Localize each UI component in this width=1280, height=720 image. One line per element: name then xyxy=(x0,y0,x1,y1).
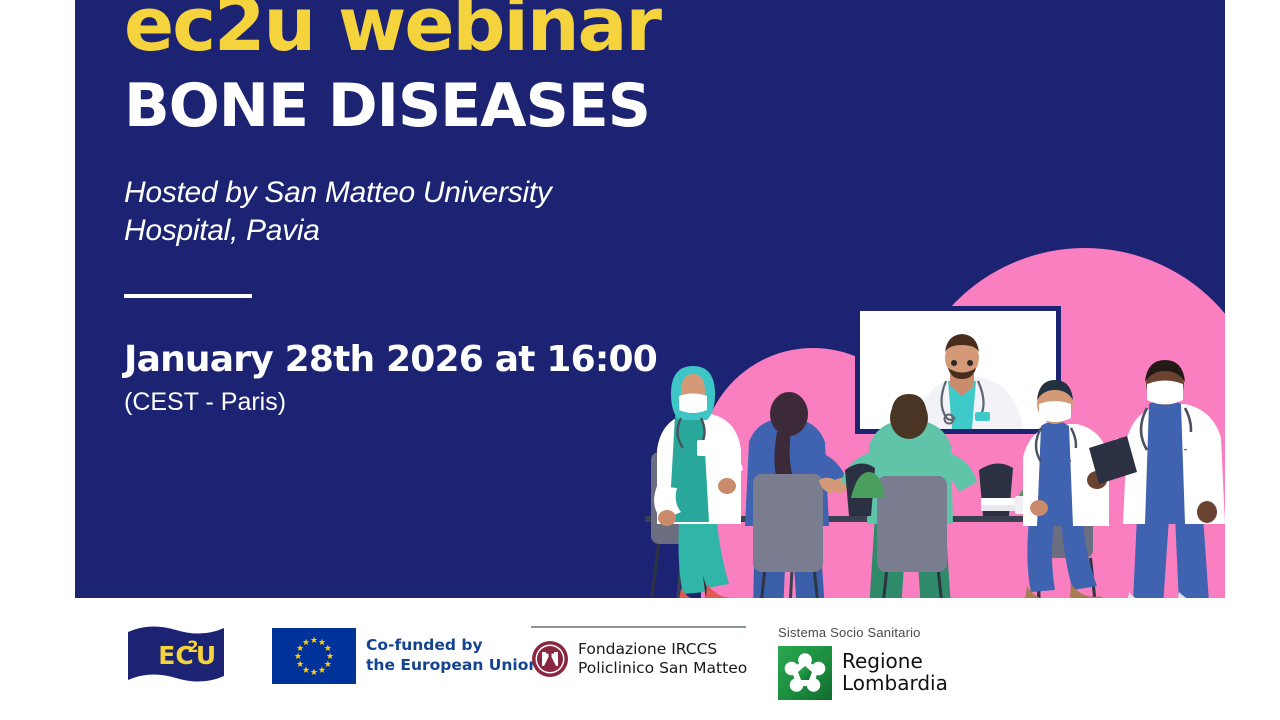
eu-cofunded-logo: Co-funded by the European Union xyxy=(272,628,539,684)
eu-cofunded-line-1: Co-funded by xyxy=(366,636,539,656)
ec2u-logo: EC U 2 xyxy=(124,620,228,692)
poster-timezone: (CEST - Paris) xyxy=(124,390,724,415)
poster-date: January 28th 2026 at 16:00 xyxy=(124,342,724,378)
regione-lombardia-logo: Sistema Socio Sanitario xyxy=(778,625,948,700)
poster-kicker: ec2u webinar xyxy=(124,0,724,62)
rosa-camuna-icon xyxy=(778,646,832,700)
san-matteo-line-2: Policlinico San Matteo xyxy=(578,659,747,678)
eu-flag-icon xyxy=(272,628,356,684)
svg-text:2: 2 xyxy=(187,637,198,656)
poster-footer: EC U 2 xyxy=(0,598,1280,720)
poster-divider-rule xyxy=(124,294,252,298)
san-matteo-text: Fondazione IRCCS Policlinico San Matteo xyxy=(578,640,747,679)
eu-cofunded-text: Co-funded by the European Union xyxy=(366,636,539,676)
poster-navy-panel: ec2u webinar BONE DISEASES Hosted by San… xyxy=(75,0,1225,598)
regione-lombardia-line-1: Regione xyxy=(842,651,948,673)
poster-host: Hosted by San Matteo University Hospital… xyxy=(124,174,724,251)
poster-text-column: ec2u webinar BONE DISEASES Hosted by San… xyxy=(124,0,724,415)
san-matteo-crest-icon xyxy=(531,640,569,678)
regione-lombardia-line-2: Lombardia xyxy=(842,673,948,695)
san-matteo-logo: Fondazione IRCCS Policlinico San Matteo xyxy=(531,626,747,678)
footer-left-logos: EC U 2 xyxy=(124,620,539,692)
poster-headline: BONE DISEASES xyxy=(124,76,724,136)
eu-cofunded-line-2: the European Union xyxy=(366,656,539,676)
poster-host-line-2: Hospital, Pavia xyxy=(124,212,724,250)
san-matteo-line-1: Fondazione IRCCS xyxy=(578,640,747,659)
regione-lombardia-text: Regione Lombardia xyxy=(842,651,948,694)
sistema-socio-sanitario-label: Sistema Socio Sanitario xyxy=(778,625,921,640)
wall-screen xyxy=(855,306,1061,434)
san-matteo-rule xyxy=(531,626,746,628)
poster-host-line-1: Hosted by San Matteo University xyxy=(124,174,724,212)
svg-text:U: U xyxy=(196,641,216,670)
